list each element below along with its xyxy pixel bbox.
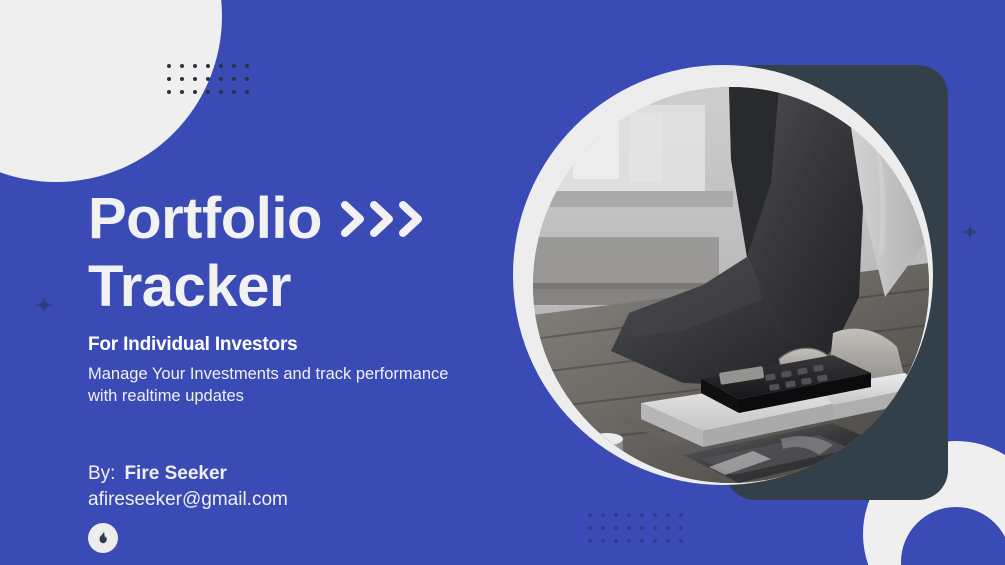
- dot: [206, 64, 210, 68]
- dot: [653, 539, 657, 543]
- slide-content: Portfolio Tracker For Individual Investo…: [88, 190, 508, 553]
- dot: [601, 526, 605, 530]
- dot: [232, 64, 236, 68]
- dot: [627, 526, 631, 530]
- subtitle-eyebrow: For Individual Investors: [88, 334, 508, 356]
- dot-grid-pattern-top: [167, 64, 249, 94]
- dot: [219, 90, 223, 94]
- dot: [614, 539, 618, 543]
- dot: [232, 77, 236, 81]
- dot: [666, 526, 670, 530]
- flame-icon: [94, 529, 112, 547]
- page-title-line-2: Tracker: [88, 258, 508, 316]
- dot: [679, 539, 683, 543]
- byline-author-name: Fire Seeker: [124, 463, 226, 485]
- dot: [666, 539, 670, 543]
- chevron-right-triple-icon: [340, 199, 424, 239]
- photo-ring: [513, 65, 933, 485]
- dot: [614, 526, 618, 530]
- dot: [193, 90, 197, 94]
- dot: [180, 64, 184, 68]
- author-email: afireseeker@gmail.com: [88, 489, 508, 511]
- hero-photo: [533, 87, 929, 483]
- dot: [232, 90, 236, 94]
- presentation-slide: Portfolio Tracker For Individual Investo…: [0, 0, 1005, 565]
- hero-visual: [505, 55, 1005, 515]
- dot-grid-pattern-bottom: [588, 513, 683, 543]
- dot: [180, 90, 184, 94]
- dot: [167, 90, 171, 94]
- byline-label: By:: [88, 463, 115, 485]
- title-text-tracker: Tracker: [88, 258, 291, 316]
- dot: [206, 90, 210, 94]
- dot: [640, 539, 644, 543]
- dot: [245, 90, 249, 94]
- byline: By: Fire Seeker: [88, 463, 508, 485]
- dot: [219, 77, 223, 81]
- dot: [206, 77, 210, 81]
- dot: [588, 539, 592, 543]
- dot: [193, 64, 197, 68]
- title-text-portfolio: Portfolio: [88, 190, 322, 248]
- dot: [588, 526, 592, 530]
- dot: [245, 64, 249, 68]
- dot: [679, 526, 683, 530]
- dot: [167, 77, 171, 81]
- dot: [193, 77, 197, 81]
- brand-badge: [88, 523, 118, 553]
- dot: [245, 77, 249, 81]
- page-title-line-1: Portfolio: [88, 190, 508, 248]
- dot: [167, 64, 171, 68]
- description-text: Manage Your Investments and track perfor…: [88, 363, 478, 408]
- dot: [601, 539, 605, 543]
- dot: [653, 526, 657, 530]
- sparkle-icon-left: [34, 295, 54, 315]
- dot: [640, 526, 644, 530]
- dot: [219, 64, 223, 68]
- dot: [627, 539, 631, 543]
- dot: [180, 77, 184, 81]
